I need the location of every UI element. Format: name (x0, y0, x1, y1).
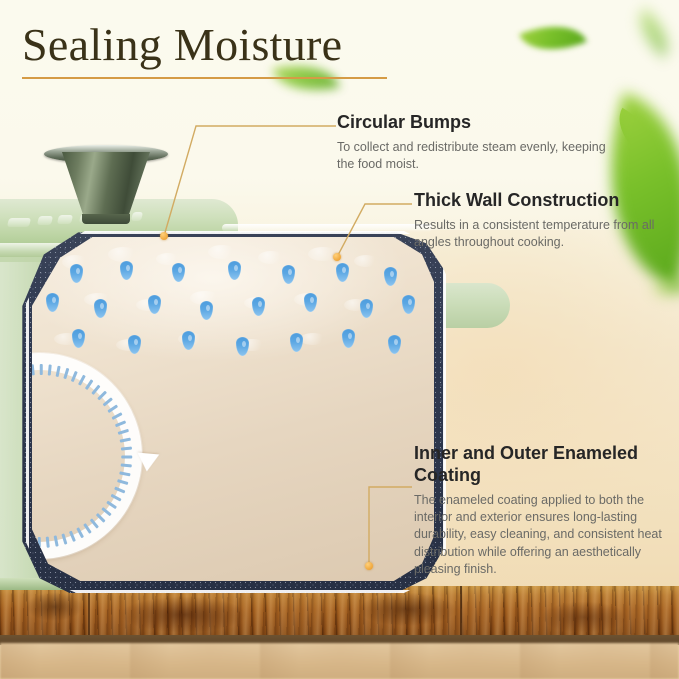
marker-dot-circular-bumps (160, 232, 168, 240)
steam-droplet-icon (360, 299, 373, 318)
steam-droplet-icon (342, 329, 355, 348)
callout-title: Thick Wall Construction (414, 190, 662, 212)
steam-droplet-icon (228, 261, 241, 280)
callout-body: To collect and redistribute steam evenly… (337, 139, 617, 174)
steam-droplet-icon (282, 265, 295, 284)
steam-droplet-icon (388, 335, 401, 354)
interior-bump (300, 333, 326, 345)
lid-knob-base (82, 214, 130, 224)
callout-body: The enameled coating applied to both the… (414, 492, 666, 578)
pot-side-handle (438, 283, 510, 328)
callout-inner-and-outer-enameled-coating: Inner and Outer Enameled Coating The ena… (414, 443, 666, 578)
pot-rim-highlight (222, 224, 432, 232)
steam-droplet-icon (46, 293, 59, 312)
lid-emboss-mark (7, 218, 31, 227)
steam-droplet-icon (172, 263, 185, 282)
wooden-floor (0, 643, 679, 679)
steam-droplet-icon (384, 267, 397, 286)
steam-droplet-icon (290, 333, 303, 352)
steam-droplet-icon (120, 261, 133, 280)
page-title: Sealing Moisture (22, 22, 387, 68)
steam-droplet-icon (236, 337, 249, 356)
steam-droplet-icon (200, 301, 213, 320)
lid-emboss-mark (37, 216, 53, 225)
steam-droplet-icon (182, 331, 195, 350)
interior-bump (354, 255, 378, 267)
ring-tick (40, 364, 43, 375)
steam-droplet-icon (304, 293, 317, 312)
interior-bump (108, 247, 138, 262)
infographic-canvas: Sealing Moisture (0, 0, 679, 679)
title-block: Sealing Moisture (22, 22, 387, 79)
callout-thick-wall-construction: Thick Wall Construction Results in a con… (414, 190, 662, 251)
callout-title: Inner and Outer Enameled Coating (414, 443, 666, 487)
interior-bump (258, 251, 284, 264)
interior-bump (208, 245, 236, 259)
title-underline (22, 77, 387, 79)
steam-droplet-icon (402, 295, 415, 314)
callout-body: Results in a consistent temperature from… (414, 217, 662, 252)
marker-dot-thick-wall (333, 253, 341, 261)
lid-emboss-mark (57, 215, 73, 224)
wood-seam (88, 586, 90, 638)
steam-droplet-icon (336, 263, 349, 282)
ring-flow-arrow-bottom-icon (136, 453, 159, 473)
ring-tick (121, 456, 132, 459)
wood-seam (460, 586, 462, 638)
steam-droplet-icon (252, 297, 265, 316)
callout-title: Circular Bumps (337, 112, 617, 134)
steam-droplet-icon (148, 295, 161, 314)
marker-dot-enameled-coating (365, 562, 373, 570)
callout-circular-bumps: Circular Bumps To collect and redistribu… (337, 112, 617, 173)
steam-droplet-icon (128, 335, 141, 354)
steam-droplet-icon (70, 264, 83, 283)
steam-droplet-icon (72, 329, 85, 348)
steam-droplet-icon (94, 299, 107, 318)
pot-interior-cavity (32, 237, 434, 581)
